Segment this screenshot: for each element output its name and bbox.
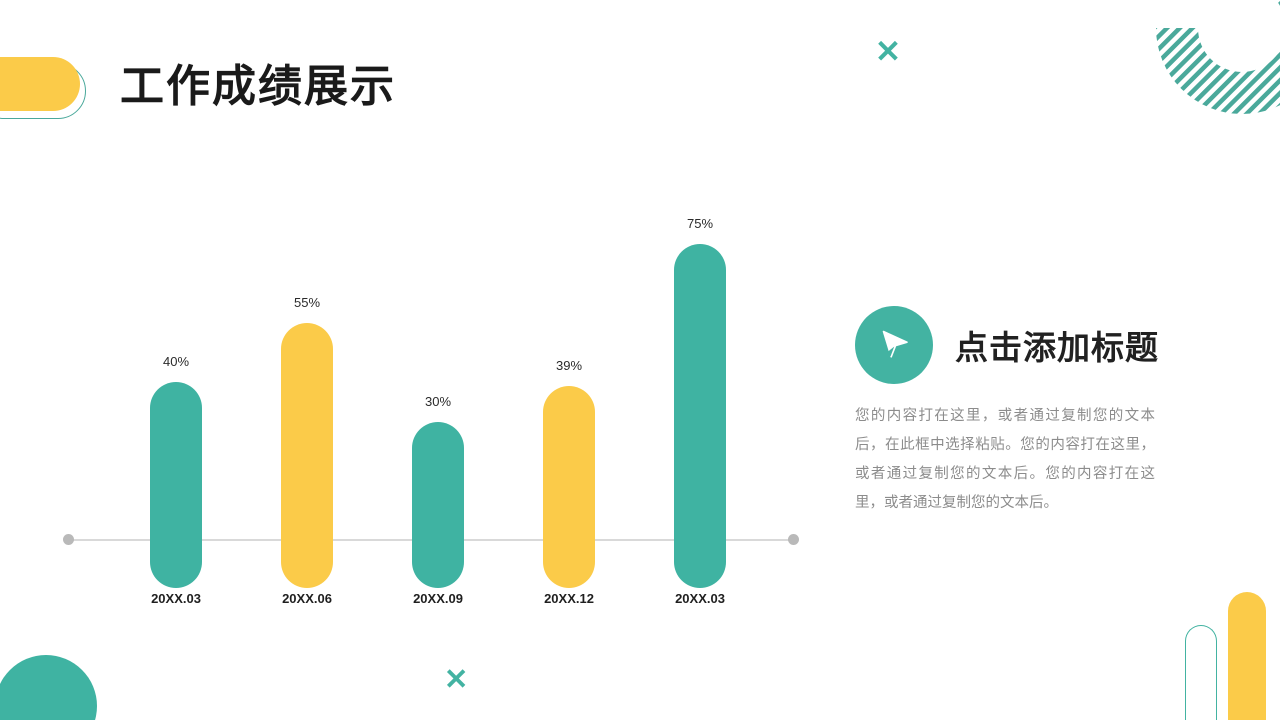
bar-group: 40%20XX.03 — [110, 190, 242, 620]
chart-bar[interactable] — [543, 386, 595, 588]
x-mark-icon-bottom: ✕ — [444, 666, 468, 695]
bar-category-label: 20XX.03 — [151, 591, 201, 606]
bar-category-label: 20XX.12 — [544, 591, 594, 606]
bar-value-label: 40% — [163, 354, 189, 369]
title-pill-fill — [0, 57, 80, 111]
chart-bar[interactable] — [674, 244, 726, 588]
x-mark-icon-top: ✕ — [875, 36, 901, 67]
bar-category-label: 20XX.09 — [413, 591, 463, 606]
teal-circle-decoration — [0, 655, 97, 720]
bar-group: 75%20XX.03 — [634, 190, 766, 620]
bar-chart: 40%20XX.0355%20XX.0630%20XX.0939%20XX.12… — [60, 190, 805, 620]
bar-category-label: 20XX.06 — [282, 591, 332, 606]
slide-canvas: ✕ ✕ 工作成绩展示 40%20XX.0355%20XX.0630%20XX.0… — [0, 0, 1280, 720]
bar-group: 39%20XX.12 — [503, 190, 635, 620]
yellow-solid-bar-decoration — [1228, 592, 1266, 720]
bar-value-label: 55% — [294, 295, 320, 310]
cursor-pointer-icon — [855, 306, 933, 384]
content-body-text: 您的内容打在这里，或者通过复制您的文本后，在此框中选择粘贴。您的内容打在这里，或… — [855, 402, 1155, 518]
chart-bars: 40%20XX.0355%20XX.0630%20XX.0939%20XX.12… — [60, 190, 805, 620]
striped-arc-icon — [1152, 0, 1280, 118]
page-title: 工作成绩展示 — [120, 51, 396, 123]
bar-category-label: 20XX.03 — [675, 591, 725, 606]
chart-bar[interactable] — [150, 382, 202, 588]
bar-value-label: 30% — [425, 394, 451, 409]
bar-value-label: 75% — [687, 216, 713, 231]
content-heading: 点击添加标题 — [955, 321, 1159, 369]
title-area: 工作成绩展示 — [0, 55, 560, 135]
bar-group: 55%20XX.06 — [241, 190, 373, 620]
content-header: 点击添加标题 — [855, 305, 1185, 385]
teal-outline-bar-decoration — [1185, 625, 1217, 720]
bar-value-label: 39% — [556, 358, 582, 373]
bar-group: 30%20XX.09 — [372, 190, 504, 620]
chart-bar[interactable] — [412, 422, 464, 589]
chart-bar[interactable] — [281, 323, 333, 588]
content-panel: 点击添加标题 您的内容打在这里，或者通过复制您的文本后，在此框中选择粘贴。您的内… — [855, 305, 1185, 518]
